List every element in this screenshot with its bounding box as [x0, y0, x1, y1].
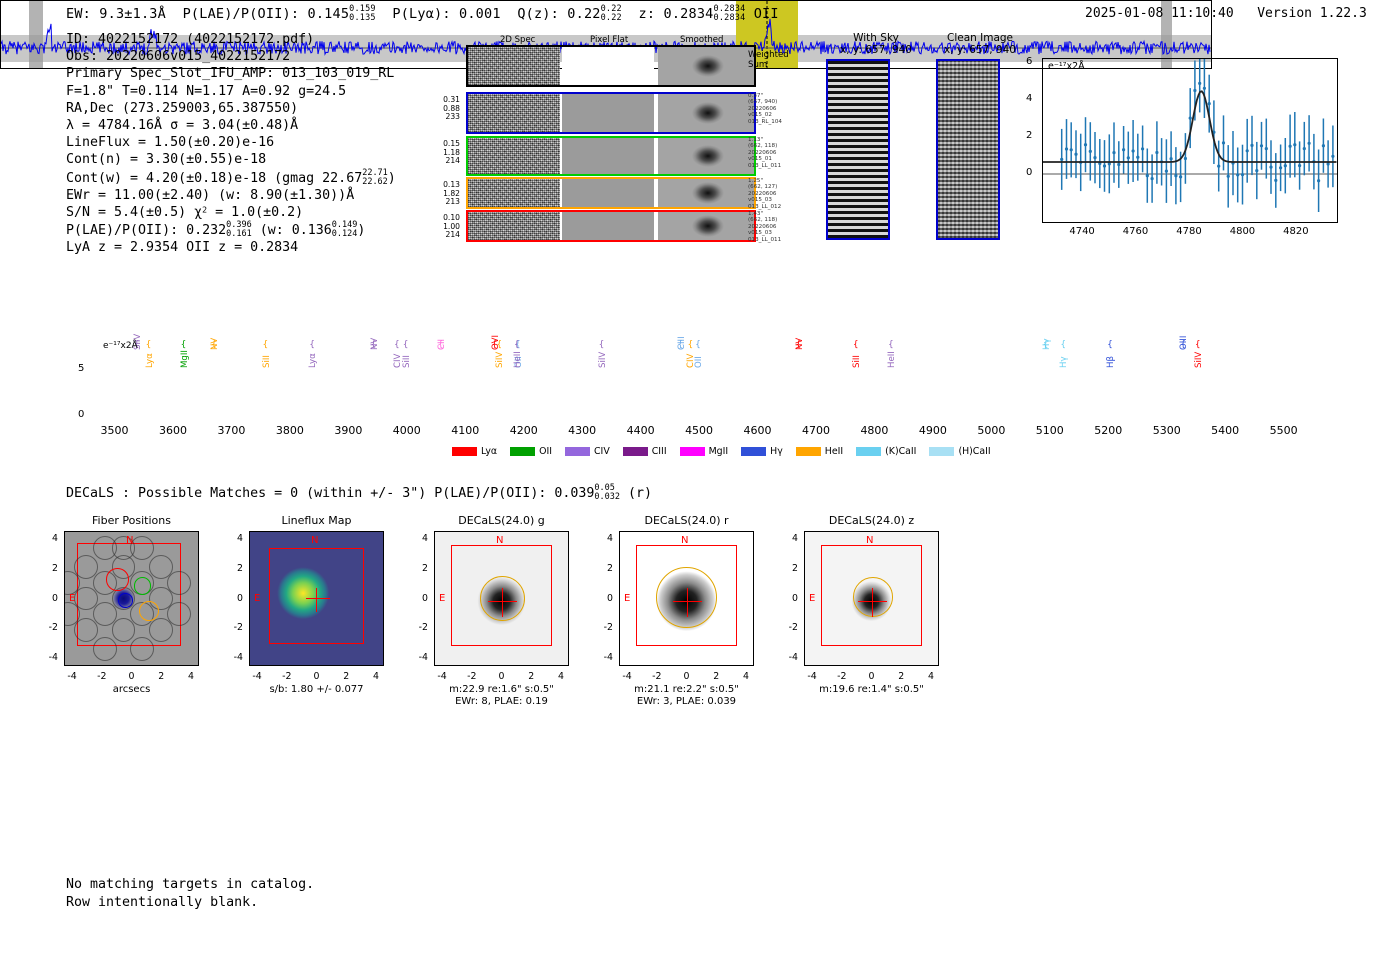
param-plae-post: )	[357, 223, 365, 238]
cutout-withsky-image	[826, 59, 890, 240]
source-parameters-block: ID: 4022152172 (4022152172.pdf) Obs: 202…	[66, 31, 396, 257]
main-spectrum-line-bracket-icon: {	[371, 340, 377, 350]
decals-header: DECaLS : Possible Matches = 0 (within +/…	[66, 484, 652, 502]
legend-color-swatch	[452, 447, 477, 456]
param-primary-spec-slot: Primary Spec_Slot_IFU_AMP: 013_103_019_R…	[66, 65, 396, 82]
main-spectrum-legend-item: Lyα	[452, 446, 497, 457]
spec2d-2dspec-image	[468, 94, 560, 132]
main-spectrum-xtick: 4000	[385, 424, 429, 437]
header-plya-value: 0.001	[459, 6, 501, 22]
main-spectrum-ytick-5: 5	[78, 363, 84, 374]
spec2d-title-smoothed: Smoothed	[680, 35, 723, 45]
header-qz-label: Q(z):	[517, 6, 559, 22]
decals-panel-caption-1: m:19.6 re:1.4" s:0.5"	[779, 684, 964, 696]
main-spectrum-xtick: 5300	[1145, 424, 1189, 437]
decals-xtick: -4	[433, 671, 451, 682]
param-ewr: EWr = 11.00(±2.40) (w: 8.90(±1.30))Å	[66, 187, 396, 204]
legend-color-swatch	[796, 447, 821, 456]
decals-xtick: 0	[863, 671, 881, 682]
cutout-withsky-coords: x, y: 657, 940	[828, 44, 924, 56]
main-spectrum-ytick-0: 0	[78, 409, 84, 420]
compass-north-label: N	[311, 535, 318, 546]
decals-xtick: 2	[522, 671, 540, 682]
param-id: ID: 4022152172 (4022152172.pdf)	[66, 31, 396, 48]
param-plae-poii: P(LAE)/P(OII): 0.2320.3960.161 (w: 0.136…	[66, 221, 396, 239]
header-qz-lo: 0.22	[601, 14, 622, 23]
main-spectrum-xtick: 4200	[502, 424, 546, 437]
decals-ytick: -2	[227, 622, 243, 633]
main-spectrum-legend-item: (K)CaII	[856, 446, 916, 457]
compass-east-label: E	[809, 593, 815, 604]
emission-fit-ytick: 4	[1026, 93, 1032, 104]
main-spectrum-xtick: 3700	[209, 424, 253, 437]
cutout-cleanimage-title-text: Clean Image	[928, 32, 1032, 44]
main-spectrum-line-bracket-icon: {	[146, 340, 152, 350]
main-spectrum-line-bracket-icon: {	[514, 340, 520, 350]
main-spectrum-xtick: 3600	[151, 424, 195, 437]
main-spectrum-xtick: 4700	[794, 424, 838, 437]
decals-ytick: 4	[42, 533, 58, 544]
main-spectrum-line-bracket-icon: {	[1043, 340, 1049, 350]
header-z-species: OII	[754, 6, 779, 22]
compass-north-label: N	[496, 535, 503, 546]
spec2d-2dspec-image	[468, 212, 560, 240]
decals-xtick: -2	[648, 671, 666, 682]
spec2d-row-left-label: 213	[424, 198, 460, 207]
main-spectrum-xtick: 5100	[1028, 424, 1072, 437]
decals-xtick: -4	[803, 671, 821, 682]
main-spectrum-xtick: 4900	[911, 424, 955, 437]
spec2d-row-right-label: 013_RL_104	[748, 119, 808, 125]
decals-xtick: 4	[552, 671, 570, 682]
decals-crosshair-vertical	[502, 588, 503, 617]
param-cont-w: Cont(w) = 4.20(±0.18)e-18 (gmag 22.6722.…	[66, 169, 396, 187]
legend-label: (H)CaII	[958, 446, 990, 457]
main-spectrum-line-bracket-icon: {	[695, 340, 701, 350]
decals-xtick: -2	[463, 671, 481, 682]
param-cont-n: Cont(n) = 3.30(±0.55)e-18	[66, 151, 396, 168]
compass-north-label: N	[126, 535, 133, 546]
main-spectrum-line-bracket-icon: {	[853, 340, 859, 350]
header-z-label: z:	[639, 6, 656, 22]
emission-fit-xtick: 4780	[1173, 226, 1205, 237]
main-spectrum-line-bracket-icon: {	[211, 340, 217, 350]
decals-ytick: -2	[412, 622, 428, 633]
fiber-circle	[167, 571, 191, 595]
decals-xtick: -2	[278, 671, 296, 682]
spec2d-smoothed-image	[658, 179, 754, 207]
decals-header-pre: DECaLS : Possible Matches = 0 (within +/…	[66, 486, 594, 501]
spec2d-2dspec-image	[468, 179, 560, 207]
spec2d-row-left-label: 233	[424, 113, 460, 122]
main-spectrum-line-bracket-icon: {	[492, 340, 498, 350]
decals-panel-caption-2: EWr: 3, PLAE: 0.039	[594, 696, 779, 708]
main-spectrum-legend-item: OII	[510, 446, 552, 457]
main-spectrum-line-bracket-icon: {	[687, 340, 693, 350]
main-spectrum-legend-item: CIII	[623, 446, 667, 457]
decals-ytick: 0	[597, 593, 613, 604]
param-cont-w-lo: 22.62	[362, 178, 388, 187]
fiber-circle	[167, 602, 191, 626]
timestamp-version: 2025-01-08 11:10:40 Version 1.22.3	[1085, 6, 1367, 21]
decals-cutout-image[interactable]	[434, 531, 569, 666]
decals-panel-title: Fiber Positions	[44, 514, 219, 527]
fiber-highlight-circle	[118, 593, 133, 608]
decals-xtick: 2	[892, 671, 910, 682]
emission-fit-xtick: 4820	[1280, 226, 1312, 237]
decals-ytick: 2	[782, 563, 798, 574]
decals-panel-caption-1: arcsecs	[39, 684, 224, 696]
decals-ytick: 4	[412, 533, 428, 544]
spec2d-2dspec-image	[468, 138, 560, 174]
decals-xtick: 0	[678, 671, 696, 682]
cutout-cleanimage-image	[936, 59, 1000, 240]
spec2d-weighted-pixelflat-image	[562, 47, 654, 85]
spec2d-smoothed-image	[658, 212, 754, 240]
main-spectrum-legend: LyαOIICIVCIIIMgIIHγHeII(K)CaII(H)CaII	[452, 441, 1004, 460]
param-cont-w-pre: Cont(w) = 4.20(±0.18)e-18 (gmag 22.67	[66, 171, 362, 186]
decals-xtick: 0	[308, 671, 326, 682]
param-plae-mid: (w: 0.136	[260, 223, 332, 238]
emission-fit-ytick: 2	[1026, 130, 1032, 141]
main-spectrum-xtick: 3900	[326, 424, 370, 437]
decals-xtick: 4	[737, 671, 755, 682]
spec2d-row	[466, 136, 756, 176]
cutout-withsky-title: With Sky x, y: 657, 940	[828, 32, 924, 56]
decals-crosshair-horizontal	[306, 598, 330, 599]
main-spectrum-xtick: 5200	[1086, 424, 1130, 437]
spec2d-row-left-label: 214	[424, 231, 460, 240]
param-snr-chi2: S/N = 5.4(±0.5) χ2 = 1.0(±0.2)	[66, 204, 396, 221]
compass-east-label: E	[254, 593, 260, 604]
fiber-circle	[74, 555, 98, 579]
spec2d-weighted-sum-row	[466, 45, 756, 87]
main-spectrum-legend-item: Hγ	[741, 446, 783, 457]
decals-xtick: -2	[833, 671, 851, 682]
legend-label: HeII	[825, 446, 843, 457]
spec2d-row-left-labels: 0.310.88233	[424, 96, 460, 122]
spec2d-weighted-sum-label: WeightedSum	[748, 50, 789, 70]
decals-crosshair-vertical	[316, 588, 317, 612]
decals-crosshair-horizontal	[673, 601, 702, 602]
header-ew: EW: 9.3±1.3Å	[66, 6, 166, 22]
decals-panel-title: Lineflux Map	[229, 514, 404, 527]
decals-cutout-image[interactable]	[619, 531, 754, 666]
fiber-circle	[93, 536, 117, 560]
main-spectrum-unit-label: e⁻¹⁷x2Å	[103, 341, 138, 351]
decals-panel-title: DECaLS(24.0) r	[599, 514, 774, 527]
main-spectrum-xtick: 5400	[1203, 424, 1247, 437]
header-z-value: 0.2834	[664, 6, 714, 22]
decals-header-post: (r)	[628, 486, 652, 501]
emission-fit-xtick: 4740	[1066, 226, 1098, 237]
param-plae-w-lo: 0.124	[332, 230, 358, 239]
fiber-circle	[130, 637, 154, 661]
decals-xtick: 4	[367, 671, 385, 682]
param-obs: Obs: 20220606v015_4022152172	[66, 48, 396, 65]
emission-fit-unit-label: e⁻¹⁷x2Å	[1048, 61, 1085, 72]
footer-line-1: No matching targets in catalog.	[66, 876, 314, 894]
header-plya-label: P(Lyα):	[392, 6, 450, 22]
param-cont-w-post: )	[388, 171, 396, 186]
legend-label: CIV	[594, 446, 610, 457]
spec2d-row-right-labels: 0.37"(657, 940)20220606v015_02013_RL_104	[748, 93, 808, 125]
spec2d-weighted-2dspec-image	[468, 47, 560, 85]
cutout-withsky-title-text: With Sky	[828, 32, 924, 44]
main-spectrum-xtick: 5500	[1262, 424, 1306, 437]
param-plae-lo: 0.161	[226, 230, 252, 239]
spec2d-row	[466, 92, 756, 134]
decals-xtick: -2	[93, 671, 111, 682]
fiber-circle	[93, 637, 117, 661]
decals-panel-title: DECaLS(24.0) z	[784, 514, 959, 527]
spec2d-row-left-label: 214	[424, 157, 460, 166]
legend-label: Hγ	[770, 446, 783, 457]
main-spectrum-legend-item: HeII	[796, 446, 843, 457]
param-lambda-sigma: λ = 4784.16Å σ = 3.04(±0.48)Å	[66, 117, 396, 134]
decals-ytick: 4	[227, 533, 243, 544]
main-spectrum-line-bracket-icon: {	[263, 340, 269, 350]
compass-east-label: E	[439, 593, 445, 604]
decals-ytick: -4	[782, 652, 798, 663]
param-radec: RA,Dec (273.259003,65.387550)	[66, 100, 396, 117]
main-spectrum-xtick: 4800	[852, 424, 896, 437]
decals-ytick: -2	[782, 622, 798, 633]
spec2d-pixelflat-image	[562, 212, 654, 240]
decals-ytick: -4	[42, 652, 58, 663]
legend-color-swatch	[741, 447, 766, 456]
compass-north-label: N	[681, 535, 688, 546]
decals-ytick: -4	[227, 652, 243, 663]
legend-color-swatch	[510, 447, 535, 456]
version-label: Version 1.22.3	[1257, 6, 1367, 21]
spec2d-row-left-labels: 0.101.00214	[424, 214, 460, 240]
decals-xtick: 4	[922, 671, 940, 682]
decals-ytick: 2	[597, 563, 613, 574]
spec2d-row-right-labels: 1.25"(662, 127)20220606v015_03013_LL_012	[748, 178, 808, 210]
fiber-highlight-circle	[106, 568, 129, 591]
spec2d-pixelflat-image	[562, 94, 654, 132]
decals-ytick: 4	[597, 533, 613, 544]
decals-panel-caption-2: EWr: 8, PLAE: 0.19	[409, 696, 594, 708]
main-spectrum-line-bracket-icon: {	[1060, 340, 1066, 350]
main-spectrum-line-bracket-icon: {	[1180, 340, 1186, 350]
main-spectrum-xtick: 3500	[93, 424, 137, 437]
main-spectrum-xtick: 4400	[619, 424, 663, 437]
spec2d-row-right-labels: 1.13"(662, 118)20220606v015_01013_LL_011	[748, 137, 808, 169]
main-spectrum-line-bracket-icon: {	[1195, 340, 1201, 350]
main-spectrum-line-bracket-icon: {	[309, 340, 315, 350]
param-snr-post: = 1.0(±0.2)	[207, 205, 303, 220]
decals-ytick: 0	[42, 593, 58, 604]
main-spectrum-line-bracket-icon: {	[438, 340, 444, 350]
main-spectrum-legend-item: CIV	[565, 446, 610, 457]
decals-ytick: 2	[42, 563, 58, 574]
header-plae-poii-value: 0.145	[308, 6, 350, 22]
decals-xtick: 4	[182, 671, 200, 682]
main-spectrum-xtick: 5000	[969, 424, 1013, 437]
header-z-lo: 0.2834	[714, 14, 746, 23]
decals-panel-caption-1: s/b: 1.80 +/- 0.077	[224, 684, 409, 696]
param-plae-pre: P(LAE)/P(OII): 0.232	[66, 223, 226, 238]
spec2d-weighted-smoothed-image	[658, 47, 754, 85]
param-snr-pre: S/N = 5.4(±0.5) χ	[66, 205, 202, 220]
spec2d-row-right-label: 013_LL_011	[748, 163, 808, 169]
decals-ytick: -4	[412, 652, 428, 663]
decals-panel-caption-1: m:21.1 re:2.2" s:0.5"	[594, 684, 779, 696]
decals-ytick: -4	[597, 652, 613, 663]
spec2d-row-right-label: 013_LL_011	[748, 237, 808, 243]
decals-xtick: 2	[337, 671, 355, 682]
main-spectrum-line-bracket-icon: {	[599, 340, 605, 350]
legend-label: CIII	[652, 446, 667, 457]
compass-east-label: E	[69, 593, 75, 604]
main-spectrum-line-bracket-icon: {	[888, 340, 894, 350]
fiber-highlight-circle	[134, 577, 151, 594]
main-spectrum-line-bracket-icon: {	[678, 340, 684, 350]
emission-fit-xtick: 4760	[1120, 226, 1152, 237]
cutout-cleanimage-coords: x, y: 657, 940	[928, 44, 1032, 56]
header-qz-value: 0.22	[567, 6, 600, 22]
legend-color-swatch	[565, 447, 590, 456]
emission-fit-xtick: 4800	[1226, 226, 1258, 237]
legend-label: (K)CaII	[885, 446, 916, 457]
decals-aperture-circle	[853, 577, 893, 617]
header-plae-poii-label: P(LAE)/P(OII):	[183, 6, 300, 22]
spec2d-row-left-labels: 0.151.18214	[424, 140, 460, 166]
timestamp: 2025-01-08 11:10:40	[1085, 6, 1234, 21]
param-lineflux: LineFlux = 1.50(±0.20)e-16	[66, 134, 396, 151]
spec2d-row	[466, 177, 756, 209]
emission-fit-ytick: 6	[1026, 56, 1032, 67]
footer-text-block: No matching targets in catalog. Row inte…	[66, 876, 314, 911]
decals-ytick: 0	[412, 593, 428, 604]
param-seeing: F=1.8" T=0.114 N=1.17 A=0.92 g=24.5	[66, 83, 396, 100]
main-spectrum-line-bracket-icon: {	[181, 340, 187, 350]
legend-label: OII	[539, 446, 552, 457]
decals-xtick: 0	[493, 671, 511, 682]
legend-color-swatch	[680, 447, 705, 456]
main-spectrum-xtick: 4300	[560, 424, 604, 437]
decals-ytick: -2	[597, 622, 613, 633]
decals-ytick: 0	[782, 593, 798, 604]
spec2d-pixelflat-image	[562, 138, 654, 174]
spec2d-row-left-labels: 0.131.82213	[424, 181, 460, 207]
legend-color-swatch	[623, 447, 648, 456]
decals-xtick: -4	[618, 671, 636, 682]
decals-crosshair-vertical	[872, 588, 873, 617]
legend-color-swatch	[856, 447, 881, 456]
fiber-circle	[130, 536, 154, 560]
decals-panel-caption-1: m:22.9 re:1.6" s:0.5"	[409, 684, 594, 696]
main-spectrum-legend-item: MgII	[680, 446, 729, 457]
cutout-cleanimage-title: Clean Image x, y: 657, 940	[928, 32, 1032, 56]
decals-panel-title: DECaLS(24.0) g	[414, 514, 589, 527]
spec2d-title-pixelflat: Pixel Flat	[590, 35, 628, 45]
spec2d-row	[466, 210, 756, 242]
spec2d-smoothed-image	[658, 138, 754, 174]
main-spectrum-xtick: 3800	[268, 424, 312, 437]
decals-ytick: 2	[227, 563, 243, 574]
emission-fit-ytick: 0	[1026, 167, 1032, 178]
decals-crosshair-horizontal	[488, 601, 517, 602]
spec2d-title-2dspec: 2D Spec	[500, 35, 535, 45]
decals-xtick: 2	[707, 671, 725, 682]
main-spectrum-line-bracket-icon: {	[403, 340, 409, 350]
emission-line-fit-svg	[1043, 59, 1337, 222]
decals-xtick: 0	[123, 671, 141, 682]
main-spectrum-line-bracket-icon: {	[796, 340, 802, 350]
decals-cutout-image[interactable]	[249, 531, 384, 666]
param-redshifts: LyA z = 2.9354 OII z = 0.2834	[66, 239, 396, 256]
main-spectrum-line-bracket-icon: {	[394, 340, 400, 350]
header-plae-poii-lo: 0.135	[349, 14, 376, 23]
decals-ytick: 4	[782, 533, 798, 544]
decals-ytick: -2	[42, 622, 58, 633]
spec2d-smoothed-image	[658, 94, 754, 132]
legend-label: MgII	[709, 446, 729, 457]
decals-cutout-image[interactable]	[804, 531, 939, 666]
footer-line-2: Row intentionally blank.	[66, 894, 314, 912]
main-spectrum-xtick: 4600	[736, 424, 780, 437]
compass-north-label: N	[866, 535, 873, 546]
main-spectrum-line-bracket-icon: {	[1107, 340, 1113, 350]
decals-crosshair-horizontal	[858, 601, 887, 602]
spec2d-row-right-label: 013_LL_012	[748, 204, 808, 210]
decals-ytick: 2	[412, 563, 428, 574]
spec2d-row-right-labels: 1.43"(662, 118)20220606v015_03013_LL_011	[748, 211, 808, 243]
decals-xtick: -4	[248, 671, 266, 682]
legend-label: Lyα	[481, 446, 497, 457]
decals-xtick: -4	[63, 671, 81, 682]
decals-header-lo: 0.032	[594, 493, 620, 502]
main-spectrum-legend-item: (H)CaII	[929, 446, 990, 457]
decals-xtick: 2	[152, 671, 170, 682]
compass-east-label: E	[624, 593, 630, 604]
main-spectrum-xtick: 4500	[677, 424, 721, 437]
legend-color-swatch	[929, 447, 954, 456]
header-summary-line: EW: 9.3±1.3Å P(LAE)/P(OII): 0.1450.1590.…	[66, 5, 779, 23]
emission-line-fit-plot: e⁻¹⁷x2Å	[1042, 58, 1338, 223]
decals-cutout-image[interactable]	[64, 531, 199, 666]
spec2d-pixelflat-image	[562, 179, 654, 207]
decals-crosshair-vertical	[687, 588, 688, 617]
decals-ytick: 0	[227, 593, 243, 604]
main-spectrum-xtick: 4100	[443, 424, 487, 437]
